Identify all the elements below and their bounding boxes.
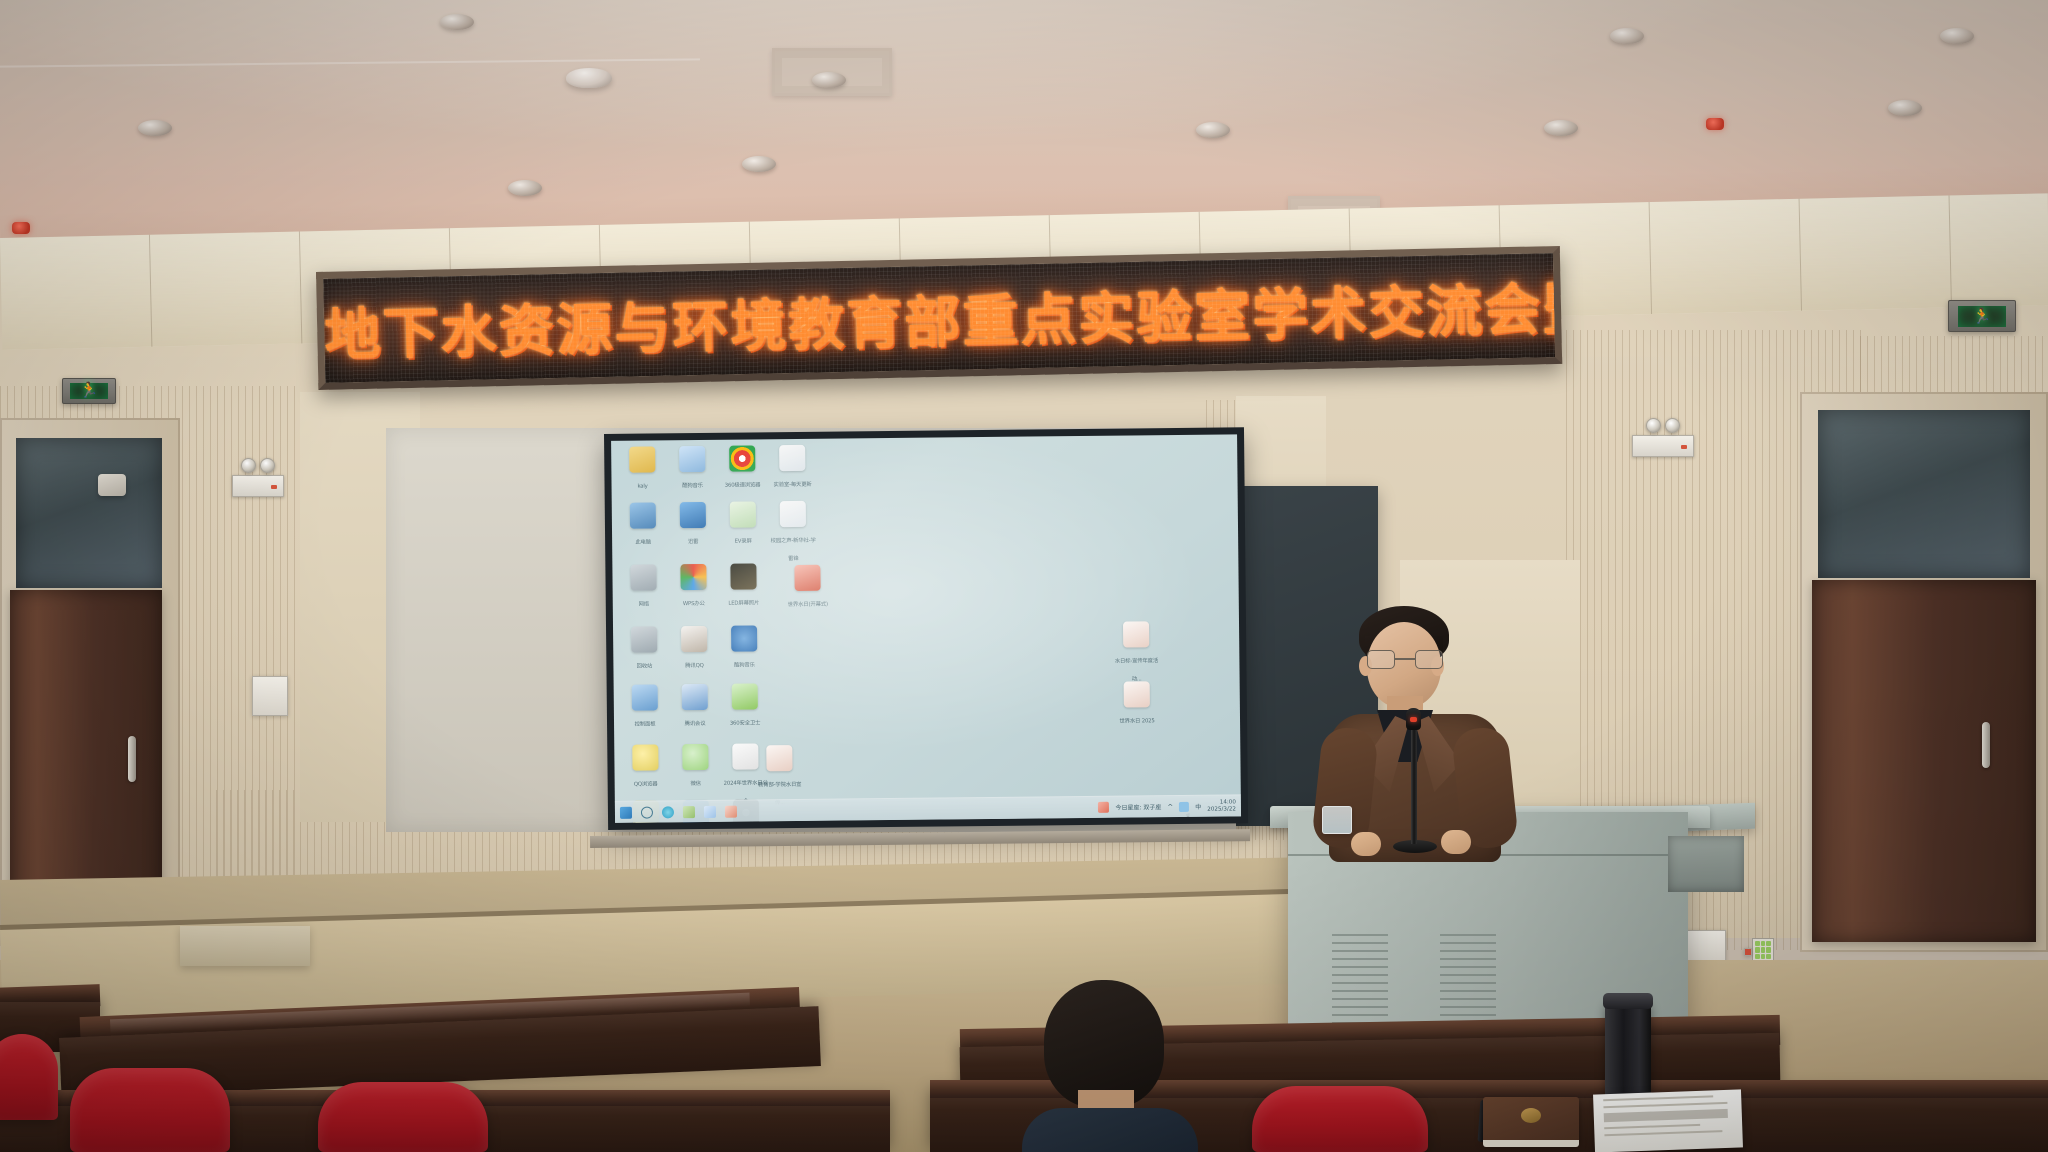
- this-pc-icon: [630, 502, 656, 528]
- desktop-icon[interactable]: WPS办公: [670, 564, 716, 610]
- door-right[interactable]: [1800, 392, 2048, 952]
- leather-notebook[interactable]: [1483, 1097, 1579, 1143]
- desktop-surface[interactable]: kaly 酷狗音乐 360极速浏览器 实验室-每天更新 此电脑 迅雷 EV录屏 …: [611, 434, 1241, 823]
- audience-head: [1044, 980, 1164, 1108]
- exit-face: 🏃: [1958, 306, 2007, 327]
- status-led: [1744, 948, 1752, 956]
- clock[interactable]: 14:00 2025/3/22: [1207, 799, 1236, 813]
- desktop-icon[interactable]: 此电脑: [620, 502, 666, 548]
- sprinkler-icon: [1610, 28, 1644, 44]
- pdf-icon: [732, 743, 758, 769]
- horoscope-icon[interactable]: [1098, 802, 1109, 813]
- door-window-right: [1818, 410, 2030, 578]
- desktop-icon[interactable]: 校园之声-新华社-学雷锋: [770, 501, 817, 565]
- indicator-led: [271, 485, 277, 489]
- sprinkler-icon: [742, 156, 776, 172]
- lamp-icon: [241, 458, 256, 473]
- desktop-icon[interactable]: LED屏幕照片: [720, 563, 766, 609]
- sprinkler-icon: [1544, 120, 1578, 136]
- sprinkler-icon: [138, 120, 172, 136]
- desktop-icon[interactable]: 实验室-每天更新: [769, 445, 815, 491]
- lamp-icon: [1646, 418, 1661, 433]
- audience-shoulders: [1022, 1108, 1198, 1152]
- presenter-hand: [1441, 830, 1471, 854]
- desktop-icon[interactable]: 迅雷: [670, 502, 716, 548]
- emergency-light-body: [1632, 435, 1694, 457]
- recorder-icon: [730, 501, 756, 527]
- qq-icon: [681, 626, 707, 652]
- wechat-icon: [682, 744, 708, 770]
- network-icon[interactable]: [1179, 801, 1189, 811]
- water-glass: [1322, 806, 1352, 834]
- door-handle-right[interactable]: [1982, 722, 1990, 768]
- sprinkler-icon: [812, 72, 846, 88]
- equipment-niche: [1668, 836, 1744, 892]
- audience-member: [1020, 980, 1200, 1152]
- control-panel-icon: [632, 684, 658, 710]
- projection-screen: kaly 酷狗音乐 360极速浏览器 实验室-每天更新 此电脑 迅雷 EV录屏 …: [604, 427, 1248, 830]
- printed-document[interactable]: [1593, 1089, 1743, 1152]
- wps-icon[interactable]: [725, 805, 737, 817]
- door-left[interactable]: [0, 418, 180, 938]
- recycle-bin-icon: [631, 626, 657, 652]
- ime-indicator[interactable]: 中: [1195, 802, 1201, 811]
- folder-icon: [629, 446, 655, 472]
- wall-speaker-icon: [98, 474, 126, 496]
- sprinkler-icon: [1196, 122, 1230, 138]
- desktop-icon[interactable]: 水日标-宣传年度活动...: [1113, 621, 1160, 685]
- security-icon: [732, 683, 758, 709]
- browser-icon: [729, 445, 755, 471]
- lamp-icon: [260, 458, 275, 473]
- conference-hall-photo: 地下水资源与环境教育部重点实验室学术交流会暨世界水日主题活动 kaly 酷狗音乐…: [0, 0, 2048, 1152]
- notebook-emblem-icon: [1521, 1108, 1541, 1123]
- wall-control-panel-right[interactable]: [1684, 930, 1726, 964]
- document-icon: [779, 445, 805, 471]
- led-banner-text: 地下水资源与环境教育部重点实验室学术交流会暨世界水日主题活动: [323, 265, 1554, 372]
- wall-control-panel-left[interactable]: [252, 676, 288, 716]
- chair[interactable]: [0, 1034, 58, 1120]
- wall-keypad[interactable]: [1752, 938, 1774, 962]
- desktop-icon[interactable]: EV录屏: [720, 501, 766, 547]
- desktop-icon[interactable]: 酷狗音乐: [721, 625, 767, 671]
- desktop-icon[interactable]: 酷狗音乐: [669, 446, 715, 492]
- desktop-icon[interactable]: 控制面板: [622, 684, 668, 730]
- desktop-icon[interactable]: QQ浏览器: [622, 744, 668, 790]
- exit-sign-right: 🏃: [1948, 300, 2016, 332]
- sprinkler-icon: [440, 14, 474, 30]
- qq-browser-icon: [632, 744, 658, 770]
- sprinkler-icon: [1888, 100, 1922, 116]
- document-icon: [780, 501, 806, 527]
- chair[interactable]: [1252, 1086, 1428, 1152]
- desktop-icon[interactable]: 腾讯QQ: [671, 626, 717, 672]
- thunder-icon: [680, 502, 706, 528]
- door-window-left: [16, 438, 162, 588]
- fire-alarm-light: [1706, 118, 1724, 130]
- task-view-icon[interactable]: [683, 806, 695, 818]
- clock-time: 14:00: [1207, 799, 1236, 806]
- meeting-icon: [682, 684, 708, 710]
- exit-sign-left: 🏃: [62, 378, 116, 404]
- cortana-icon[interactable]: [662, 806, 674, 818]
- desktop-icon[interactable]: 360极速浏览器: [719, 445, 765, 491]
- desktop-icon[interactable]: 360安全卫士: [722, 683, 768, 729]
- lamp-icon: [1665, 418, 1680, 433]
- sprinkler-icon: [508, 180, 542, 196]
- chevron-up-icon[interactable]: ^: [1167, 803, 1173, 811]
- taskbar[interactable]: 今日星座: 双子座 ^ 中 14:00 2025/3/22: [615, 794, 1241, 823]
- start-button[interactable]: [620, 806, 632, 818]
- chair[interactable]: [318, 1082, 488, 1152]
- document-icon: [1124, 681, 1150, 707]
- chair[interactable]: [70, 1068, 230, 1152]
- sprinkler-icon: [1940, 28, 1974, 44]
- door-leaf-right[interactable]: [1812, 580, 2036, 942]
- desktop-icon[interactable]: 网络: [620, 564, 666, 610]
- eyeglasses-icon: [1367, 650, 1443, 670]
- kugou-icon: [731, 625, 757, 651]
- desktop-icon[interactable]: 微信: [672, 744, 718, 790]
- emergency-light-body: [232, 475, 284, 497]
- indicator-led: [1681, 445, 1687, 449]
- exit-face: 🏃: [70, 383, 108, 400]
- stage-step: [180, 926, 310, 966]
- wps-icon: [680, 564, 706, 590]
- microphone-led: [1410, 717, 1417, 722]
- tray-horoscope-text: 今日星座: 双子座: [1115, 802, 1161, 811]
- desktop-icon[interactable]: 腾讯会议: [672, 684, 718, 730]
- desktop-icon[interactable]: kaly: [619, 446, 665, 492]
- search-icon[interactable]: [641, 806, 653, 818]
- running-man-icon: 🏃: [80, 383, 99, 398]
- door-handle-left[interactable]: [128, 736, 136, 782]
- document-icon: [766, 745, 792, 771]
- document-icon: [794, 565, 820, 591]
- emergency-light-left: [232, 458, 284, 497]
- document-icon: [1123, 621, 1149, 647]
- network-icon: [630, 564, 656, 590]
- thermos-lid: [1603, 993, 1653, 1009]
- led-photo-icon: [730, 563, 756, 589]
- emergency-light-right: [1632, 418, 1694, 457]
- desktop-icon[interactable]: 世界水日 2025: [1114, 681, 1160, 727]
- desktop-icon[interactable]: 回收站: [621, 626, 667, 672]
- desktop-icon[interactable]: 世界水日(开幕式): [784, 565, 830, 611]
- presenter-hand: [1351, 832, 1381, 856]
- microphone-stem: [1411, 718, 1417, 844]
- running-man-icon: 🏃: [1973, 309, 1992, 324]
- clock-date: 2025/3/22: [1207, 806, 1236, 813]
- music-icon: [679, 446, 705, 472]
- system-tray[interactable]: 今日星座: 双子座 ^ 中 14:00 2025/3/22: [1098, 799, 1236, 814]
- explorer-icon[interactable]: [704, 805, 716, 817]
- smoke-detector-icon: [566, 68, 612, 88]
